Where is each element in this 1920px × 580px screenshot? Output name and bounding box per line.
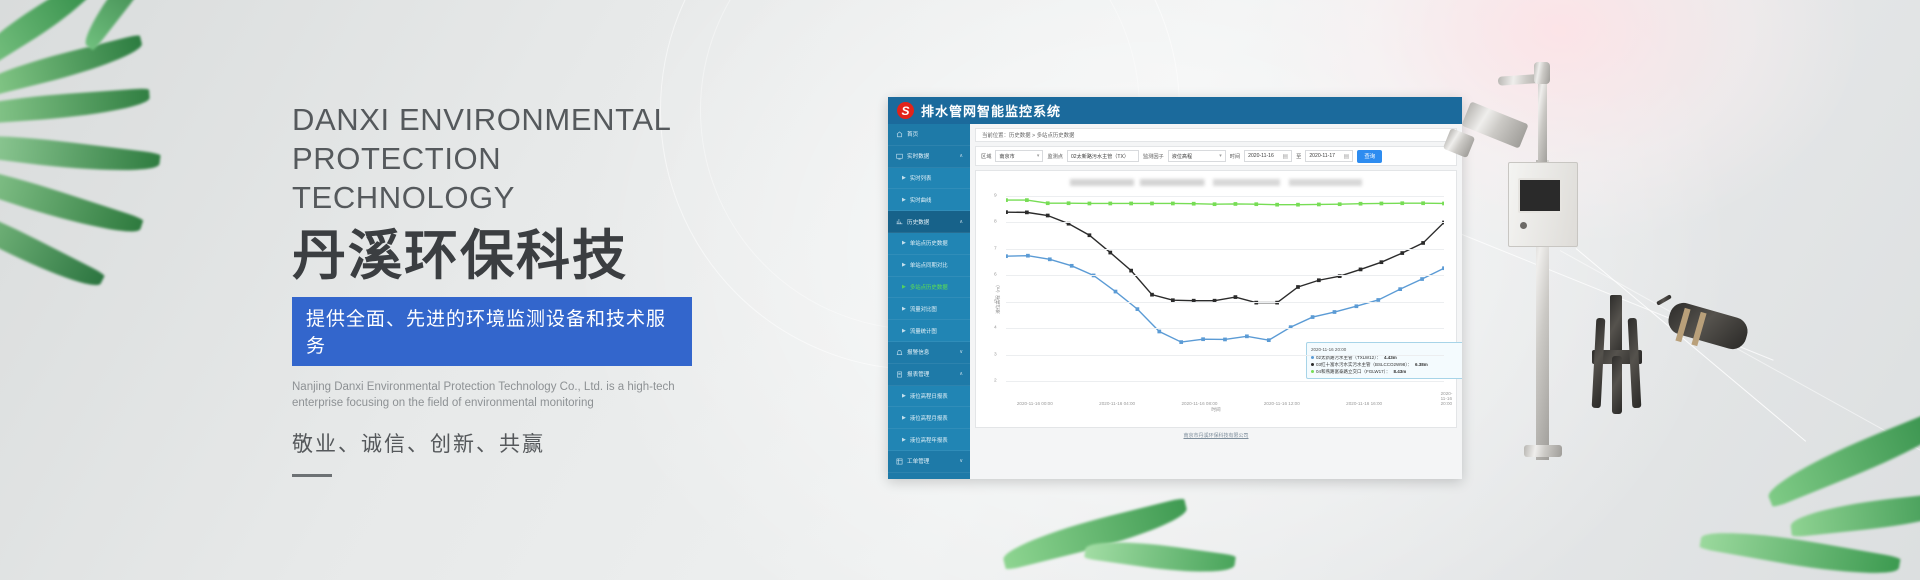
chart-data-point bbox=[1234, 295, 1238, 299]
headline-block: DANXI ENVIRONMENTAL PROTECTION TECHNOLOG… bbox=[292, 100, 732, 477]
time-label: 时间 bbox=[1230, 153, 1240, 160]
doc-icon bbox=[896, 371, 903, 378]
chart-series-line-1 bbox=[1006, 212, 1444, 302]
chart-data-point bbox=[1254, 202, 1258, 206]
tooltip-series-name: 03红十富水污水实污水主管（BSLCCO2W98）： bbox=[1316, 361, 1412, 368]
y-axis-tick: 7 bbox=[994, 246, 997, 251]
sidebar-item-label: 首页 bbox=[907, 130, 918, 138]
sidebar-item-14[interactable]: ▶液位高程年报表 bbox=[888, 429, 970, 451]
chart-data-point bbox=[1245, 334, 1249, 338]
chart-data-point bbox=[1171, 202, 1175, 206]
company-values: 敬业、诚信、创新、共赢 bbox=[292, 428, 732, 458]
y-axis-tick: 2 bbox=[994, 379, 997, 384]
bamboo-leaf bbox=[0, 127, 161, 180]
chart-data-point bbox=[1157, 330, 1161, 334]
chart-data-point bbox=[1192, 202, 1196, 206]
chart-data-point bbox=[1223, 338, 1227, 342]
chart-data-point bbox=[1006, 198, 1008, 202]
chart-data-point bbox=[1129, 269, 1133, 273]
chevron-up-icon: ∧ bbox=[959, 371, 963, 377]
chart-data-point bbox=[1026, 254, 1030, 258]
chevron-right-icon: ▶ bbox=[902, 175, 906, 181]
sidebar-item-1[interactable]: 实时数据∧ bbox=[888, 146, 970, 168]
chart-data-point bbox=[1046, 214, 1050, 218]
chart-data-point bbox=[1275, 203, 1279, 207]
chart-data-point bbox=[1136, 307, 1140, 311]
chart-data-point bbox=[1025, 211, 1029, 215]
series-color-dot bbox=[1311, 363, 1314, 366]
chart-series-line-2 bbox=[1006, 200, 1444, 205]
home-icon bbox=[896, 131, 903, 138]
chart-data-point bbox=[1267, 338, 1271, 342]
monitor-icon bbox=[896, 153, 903, 160]
chart-data-point bbox=[1213, 202, 1217, 206]
x-axis-tick: 2020-11-16 12:00 bbox=[1264, 401, 1300, 406]
chart-tooltip: 2020-11-16 20:00 02太新路污水主管（TXLW12）：4.43m… bbox=[1306, 342, 1462, 379]
calendar-icon: ▤ bbox=[1344, 153, 1350, 160]
region-select[interactable]: 南京市 ▾ bbox=[995, 150, 1043, 162]
chevron-right-icon: ▶ bbox=[902, 284, 906, 290]
chart-data-point bbox=[1108, 202, 1112, 206]
chart-data-point bbox=[1048, 257, 1052, 261]
x-axis-tick: 2020-11-16 04:00 bbox=[1099, 401, 1135, 406]
company-logo-icon: S bbox=[897, 102, 914, 119]
sidebar-item-9[interactable]: ▶流量统计图 bbox=[888, 320, 970, 342]
x-axis-title: 时间 bbox=[1211, 407, 1220, 413]
gridline bbox=[1006, 302, 1444, 303]
tooltip-series-value: 8.43m bbox=[1393, 368, 1406, 375]
sidebar-item-4[interactable]: 历史数据∧ bbox=[888, 211, 970, 233]
chart-data-point bbox=[1355, 304, 1359, 308]
cabinet-knob-icon bbox=[1520, 222, 1527, 229]
sidebar-item-8[interactable]: ▶流量对比图 bbox=[888, 298, 970, 320]
chart-data-point bbox=[1296, 285, 1300, 289]
date-to-input[interactable]: 2020-11-17 ▤ bbox=[1305, 150, 1353, 162]
tooltip-series-value: 6.38m bbox=[1415, 361, 1428, 368]
sidebar-item-label: 工单管理 bbox=[907, 457, 929, 465]
date-to-value: 2020-11-17 bbox=[1309, 153, 1335, 159]
app-title: 排水管网智能监控系统 bbox=[921, 101, 1061, 120]
date-from-input[interactable]: 2020-11-16 ▤ bbox=[1244, 150, 1292, 162]
sidebar-item-label: 多站点历史数据 bbox=[910, 283, 948, 291]
x-axis-tick: 2020-11-16 20:00 bbox=[1441, 391, 1453, 406]
divider-rule bbox=[292, 474, 332, 477]
breadcrumb: 当前位置：历史数据 > 多站点历史数据 bbox=[975, 128, 1457, 142]
chart-data-point bbox=[1150, 202, 1154, 206]
y-axis-title: 液位高程（m） bbox=[996, 282, 1002, 313]
y-axis-tick: 6 bbox=[994, 273, 997, 278]
sidebar-item-label: 流量统计图 bbox=[910, 327, 937, 335]
sensor-probe-tip bbox=[1612, 356, 1622, 414]
chart-data-point bbox=[1398, 287, 1402, 291]
chevron-up-icon: ∧ bbox=[959, 153, 963, 159]
chart-data-point bbox=[1317, 278, 1321, 282]
chevron-down-icon: ▾ bbox=[1219, 153, 1222, 159]
sidebar-item-5[interactable]: ▶单站点历史数据 bbox=[888, 233, 970, 255]
sidebar-item-label: 实时数据 bbox=[907, 152, 929, 160]
series-color-dot bbox=[1311, 356, 1314, 359]
chart-data-point bbox=[1067, 201, 1071, 205]
gridline bbox=[1006, 328, 1444, 329]
chart-data-point bbox=[1108, 251, 1112, 255]
data-logger-device bbox=[1665, 300, 1751, 353]
gridline bbox=[1006, 196, 1444, 197]
sidebar-item-12[interactable]: ▶液位高程日报表 bbox=[888, 386, 970, 408]
bamboo-leaf bbox=[1789, 491, 1920, 538]
chart-data-point bbox=[1359, 202, 1363, 206]
chart-data-point bbox=[1317, 203, 1321, 207]
chart-data-point bbox=[1359, 268, 1363, 272]
sidebar-item-label: 实时列表 bbox=[910, 174, 932, 182]
chevron-right-icon: ▶ bbox=[902, 240, 906, 246]
chart-data-point bbox=[1150, 293, 1154, 297]
monitoring-equipment-photo bbox=[1480, 20, 1920, 490]
region-value: 南京市 bbox=[999, 153, 1014, 160]
app-footer: 南京市丹溪环保科技有限公司 bbox=[975, 428, 1457, 439]
x-axis-tick: 2020-11-16 16:00 bbox=[1346, 401, 1382, 406]
app-header: S 排水管网智能监控系统 bbox=[888, 97, 1462, 124]
sidebar-item-3[interactable]: ▶实时曲线 bbox=[888, 189, 970, 211]
factor-select[interactable]: 液位高程 ▾ bbox=[1168, 150, 1226, 162]
chart-data-point bbox=[1129, 202, 1133, 206]
chart-data-point bbox=[1296, 203, 1300, 207]
sidebar-item-6[interactable]: ▶单站点同期对比 bbox=[888, 255, 970, 277]
sidebar-item-7[interactable]: ▶多站点历史数据 bbox=[888, 277, 970, 299]
series-color-dot bbox=[1311, 370, 1314, 373]
chart-data-point bbox=[1088, 202, 1092, 206]
chart-data-point bbox=[1400, 251, 1404, 255]
chart-data-point bbox=[1311, 315, 1315, 319]
sidebar-item-label: 报表管理 bbox=[907, 370, 929, 378]
sidebar-item-label: 液位高程日报表 bbox=[910, 392, 948, 400]
chart-data-point bbox=[1006, 254, 1008, 258]
chart-data-point bbox=[1421, 201, 1425, 205]
chart-data-point bbox=[1400, 201, 1404, 205]
gridline bbox=[1006, 249, 1444, 250]
slogan-bar: 提供全面、先进的环境监测设备和技术服务 bbox=[292, 297, 692, 366]
camera-mount-joint bbox=[1534, 62, 1550, 84]
footer-company-link[interactable]: 南京市丹溪环保科技有限公司 bbox=[1183, 433, 1248, 439]
chevron-right-icon: ▶ bbox=[902, 437, 906, 443]
date-separator: 至 bbox=[1296, 153, 1301, 160]
chart-icon bbox=[896, 218, 903, 225]
tooltip-time: 2020-11-16 20:00 bbox=[1311, 346, 1462, 353]
factor-label: 监测因子 bbox=[1143, 153, 1164, 160]
chart-card: 液位高程（m） 时间 2020-11-16 20:00 02太新路污水主管（TX… bbox=[975, 170, 1457, 428]
query-button[interactable]: 查询 bbox=[1357, 150, 1382, 163]
date-from-value: 2020-11-16 bbox=[1248, 153, 1274, 159]
chart-data-point bbox=[1380, 260, 1384, 264]
sidebar-item-13[interactable]: ▶液位高程月报表 bbox=[888, 407, 970, 429]
english-title: DANXI ENVIRONMENTAL PROTECTION TECHNOLOG… bbox=[292, 100, 732, 217]
sidebar-item-label: 单站点历史数据 bbox=[910, 239, 948, 247]
chart-data-point bbox=[1234, 202, 1238, 206]
chevron-right-icon: ▶ bbox=[902, 328, 906, 334]
gridline bbox=[1006, 222, 1444, 223]
monitoring-app-window: S 排水管网智能监控系统 首页实时数据∧▶实时列表▶实时曲线历史数据∧▶单站点历… bbox=[888, 97, 1462, 479]
x-axis-tick: 2020-11-16 08:00 bbox=[1182, 401, 1218, 406]
equipment-pole-base bbox=[1524, 445, 1562, 457]
grid-icon bbox=[896, 458, 903, 465]
y-axis-tick: 5 bbox=[994, 299, 997, 304]
chart-data-point bbox=[1070, 264, 1074, 268]
chart-data-point bbox=[1442, 266, 1444, 270]
calendar-icon: ▤ bbox=[1282, 153, 1288, 160]
english-description: Nanjing Danxi Environmental Protection T… bbox=[292, 379, 682, 411]
chart-data-point bbox=[1114, 290, 1118, 294]
x-axis-tick: 2020-11-16 00:00 bbox=[1017, 401, 1053, 406]
station-value: 02太新路污水主管（TX） bbox=[1071, 153, 1129, 160]
sidebar-nav[interactable]: 首页实时数据∧▶实时列表▶实时曲线历史数据∧▶单站点历史数据▶单站点同期对比▶多… bbox=[888, 124, 970, 479]
tooltip-row-2: 04和燕路富泰路立交口（FGLW17）：8.43m bbox=[1311, 368, 1462, 375]
logger-cable bbox=[1656, 294, 1672, 305]
sidebar-item-label: 报警信息 bbox=[907, 348, 929, 356]
sidebar-item-0[interactable]: 首页 bbox=[888, 124, 970, 146]
bamboo-leaf bbox=[0, 88, 151, 126]
chevron-down-icon: ▾ bbox=[1037, 153, 1040, 159]
y-axis-tick: 8 bbox=[994, 220, 997, 225]
chart-svg bbox=[1006, 190, 1444, 358]
chart-data-point bbox=[1088, 233, 1092, 237]
main-content: 当前位置：历史数据 > 多站点历史数据 区域 南京市 ▾ 监测点 02太新路污水… bbox=[970, 124, 1462, 479]
y-axis-tick: 4 bbox=[994, 326, 997, 331]
sidebar-item-label: 液位高程月报表 bbox=[910, 414, 948, 422]
chevron-right-icon: ▶ bbox=[902, 393, 906, 399]
chart-data-point bbox=[1179, 340, 1183, 344]
chart-data-point bbox=[1006, 210, 1008, 214]
chevron-right-icon: ▶ bbox=[902, 262, 906, 268]
sidebar-item-10[interactable]: 报警信息∨ bbox=[888, 342, 970, 364]
sidebar-item-label: 单站点同期对比 bbox=[910, 261, 948, 269]
station-label: 监测点 bbox=[1047, 153, 1063, 160]
chart-data-point bbox=[1338, 202, 1342, 206]
chart-data-point bbox=[1201, 337, 1205, 341]
chevron-up-icon: ∧ bbox=[959, 219, 963, 225]
tooltip-series-name: 04和燕路富泰路立交口（FGLW17）： bbox=[1316, 368, 1390, 375]
gridline bbox=[1006, 275, 1444, 276]
filter-toolbar[interactable]: 区域 南京市 ▾ 监测点 02太新路污水主管（TX） 监测因子 液位高程 ▾ 时… bbox=[975, 146, 1457, 166]
chart-data-point bbox=[1333, 310, 1337, 314]
chinese-title: 丹溪环保科技 bbox=[292, 225, 732, 287]
sidebar-item-15[interactable]: 工单管理∨ bbox=[888, 451, 970, 473]
station-select[interactable]: 02太新路污水主管（TX） bbox=[1067, 150, 1139, 162]
cabinet-display-screen bbox=[1518, 178, 1562, 213]
chart-title bbox=[1070, 179, 1362, 186]
chevron-down-icon: ∨ bbox=[959, 349, 963, 355]
sidebar-item-label: 历史数据 bbox=[907, 218, 929, 226]
sidebar-item-label: 流量对比图 bbox=[910, 305, 937, 313]
chart-data-point bbox=[1421, 241, 1425, 245]
gridline bbox=[1006, 355, 1444, 356]
gridline bbox=[1006, 381, 1444, 382]
chart-data-point bbox=[1025, 198, 1029, 202]
chevron-right-icon: ▶ bbox=[902, 415, 906, 421]
y-axis-tick: 3 bbox=[994, 352, 997, 357]
chevron-right-icon: ▶ bbox=[902, 306, 906, 312]
chevron-right-icon: ▶ bbox=[902, 197, 906, 203]
region-label: 区域 bbox=[981, 153, 991, 160]
tooltip-rows: 02太新路污水主管（TXLW12）：4.43m03红十富水污水实污水主管（BSL… bbox=[1311, 354, 1462, 375]
chevron-down-icon: ∨ bbox=[959, 458, 963, 464]
y-axis-tick: 9 bbox=[994, 194, 997, 199]
tooltip-row-1: 03红十富水污水实污水主管（BSLCCO2W98）：6.38m bbox=[1311, 361, 1462, 368]
chart-data-point bbox=[1380, 202, 1384, 206]
chart-data-point bbox=[1442, 202, 1444, 206]
sidebar-item-2[interactable]: ▶实时列表 bbox=[888, 168, 970, 190]
bell-icon bbox=[896, 349, 903, 356]
sidebar-item-label: 实时曲线 bbox=[910, 196, 932, 204]
factor-value: 液位高程 bbox=[1172, 153, 1192, 160]
chart-plot-area: 液位高程（m） 时间 2020-11-16 20:00 02太新路污水主管（TX… bbox=[984, 190, 1448, 405]
sidebar-item-11[interactable]: 报表管理∧ bbox=[888, 364, 970, 386]
chart-data-point bbox=[1046, 201, 1050, 205]
sidebar-item-label: 液位高程年报表 bbox=[910, 436, 948, 444]
chart-data-point bbox=[1420, 277, 1424, 281]
